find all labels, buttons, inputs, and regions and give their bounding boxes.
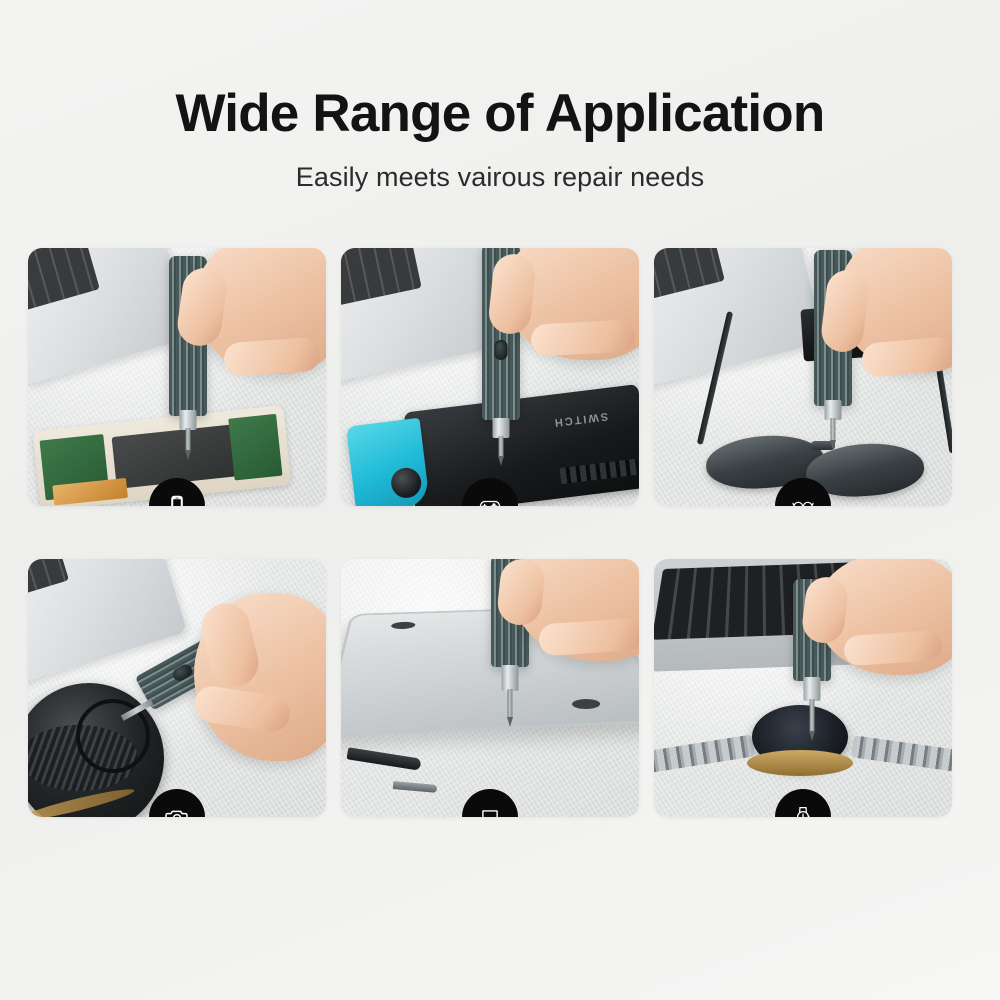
application-tile-game-console[interactable]: SWITCH	[341, 248, 639, 506]
bit-tip	[498, 456, 504, 466]
watch-gold-bezel	[747, 750, 853, 776]
bit-tip	[809, 731, 815, 741]
photo-camera-repair	[28, 559, 326, 817]
chuck-collar	[825, 400, 842, 420]
application-tile-smartphone[interactable]	[28, 248, 326, 506]
bit-tip	[830, 440, 836, 450]
bit-tip	[507, 717, 513, 727]
analog-stick	[389, 466, 422, 499]
smartphone-icon	[165, 494, 189, 506]
page-subtitle: Easily meets vairous repair needs	[0, 162, 1000, 193]
laptop-keys-prop	[28, 559, 69, 603]
power-button	[171, 662, 195, 683]
index-finger	[223, 337, 321, 378]
laptop-keys-prop	[28, 248, 100, 315]
power-button	[495, 340, 508, 360]
game-controller-icon	[477, 493, 503, 506]
joycon-controller	[346, 418, 430, 506]
photo-eyeglasses-repair	[654, 248, 952, 506]
bit-tip	[185, 450, 191, 460]
chuck-collar	[493, 418, 510, 438]
screwdriver-bit	[508, 689, 513, 719]
camera-icon	[164, 804, 190, 817]
eyeglasses-icon	[789, 492, 817, 506]
index-finger	[538, 617, 639, 656]
screwdriver-bit	[499, 436, 504, 458]
index-finger	[530, 319, 636, 356]
switch-brand-label: SWITCH	[552, 410, 608, 429]
laptop-keys-prop	[654, 248, 725, 307]
screwdriver-bit	[831, 418, 836, 442]
application-tile-laptop[interactable]	[341, 559, 639, 817]
laptop-icon	[477, 804, 503, 817]
rubber-foot-bottom-right	[571, 699, 602, 710]
screwdriver-bit	[810, 699, 815, 733]
application-tile-watch[interactable]: MacBook	[654, 559, 952, 817]
photo-game-console-repair: SWITCH	[341, 248, 639, 506]
chuck-collar	[502, 665, 519, 691]
laptop-keys-prop	[341, 248, 422, 311]
application-tile-camera[interactable]	[28, 559, 326, 817]
header: Wide Range of Application Easily meets v…	[0, 0, 1000, 193]
pcb-right	[228, 414, 282, 481]
application-grid: SWITCH	[28, 248, 972, 817]
rubber-foot-top-left	[391, 622, 416, 630]
screwdriver-bit	[186, 428, 191, 452]
infographic-page: Wide Range of Application Easily meets v…	[0, 0, 1000, 1000]
console-vents	[559, 459, 638, 484]
application-tile-eyeglasses[interactable]	[654, 248, 952, 506]
photo-laptop-repair	[341, 559, 639, 817]
photo-smartphone-repair	[28, 248, 326, 506]
wristwatch-icon	[790, 804, 816, 817]
watch-case	[752, 705, 848, 769]
page-title: Wide Range of Application	[0, 86, 1000, 142]
chuck-collar	[180, 410, 197, 430]
photo-watch-repair: MacBook	[654, 559, 952, 817]
chuck-collar	[804, 677, 821, 701]
